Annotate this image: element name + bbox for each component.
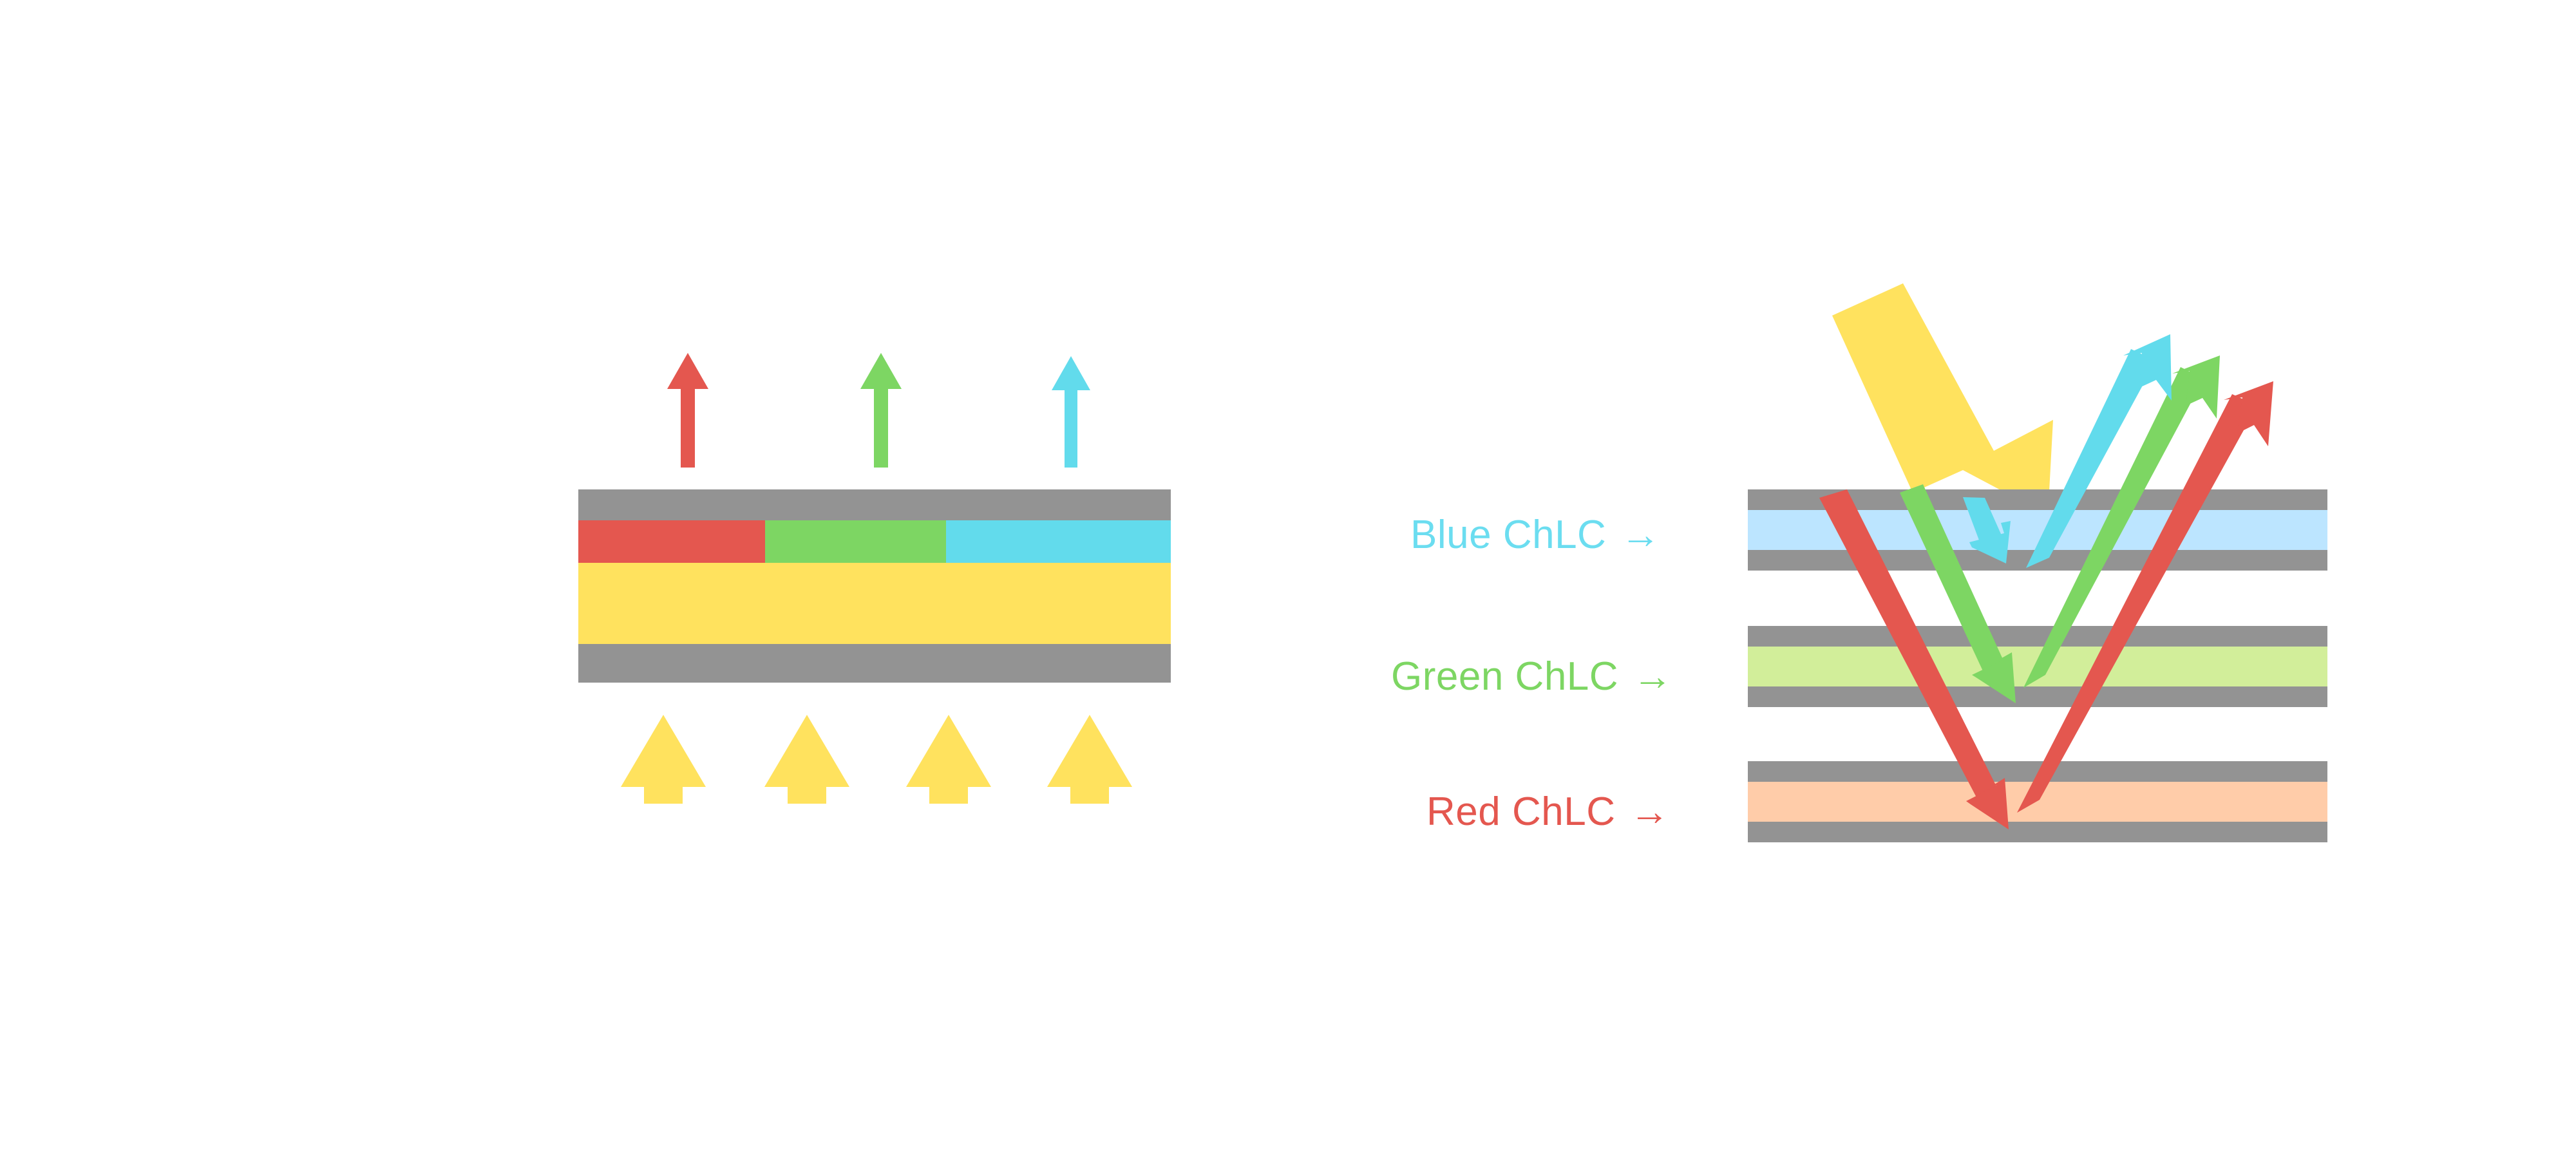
red-chlc-label: Red ChLC→ <box>1426 792 1670 832</box>
blue-chlc-label: Blue ChLC→ <box>1410 515 1661 555</box>
green-chlc-label-arrow-icon: → <box>1633 654 1673 699</box>
red-chlc-label-text: Red ChLC <box>1426 790 1615 834</box>
white-light-incident-arrow <box>1832 283 2053 515</box>
red-chlc-label-arrow-icon: → <box>1629 790 1670 834</box>
green-cell-bottom-electrode <box>1748 686 2327 707</box>
green-cell-top-electrode <box>1748 626 2327 647</box>
green-chlc-label: Green ChLC→ <box>1391 657 1673 697</box>
diagram-canvas: Blue ChLC→ Green ChLC→ Red ChLC→ <box>0 0 2576 1154</box>
right-panel-group <box>0 0 2576 1154</box>
blue-chlc-label-arrow-icon: → <box>1620 513 1661 557</box>
blue-chlc-label-text: Blue ChLC <box>1410 513 1606 557</box>
red-cell-bottom-electrode <box>1748 822 2327 842</box>
green-chlc-label-text: Green ChLC <box>1391 654 1618 699</box>
